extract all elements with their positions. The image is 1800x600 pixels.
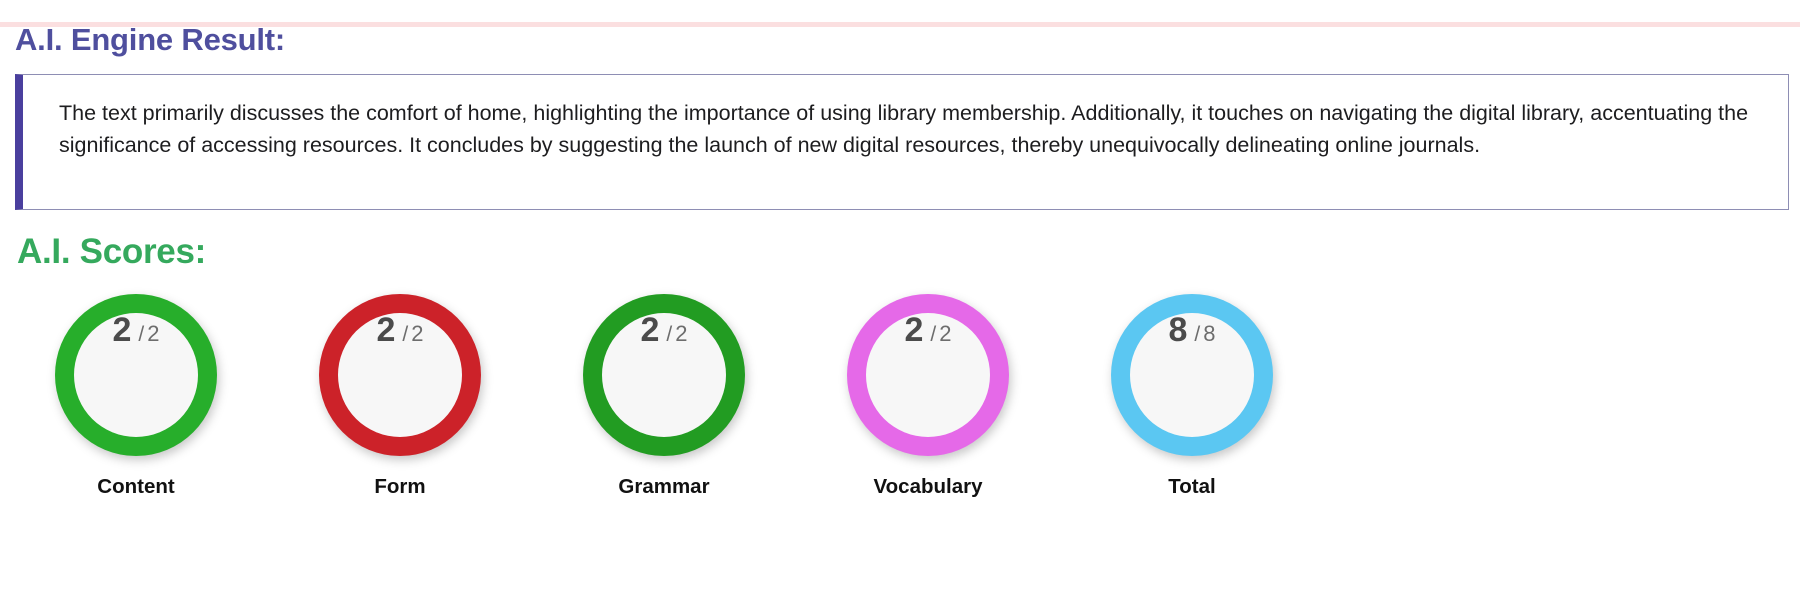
- score-ring-grammar: 2/2: [583, 294, 745, 456]
- score-inner-circle: 2/2: [866, 313, 990, 437]
- score-inner-circle: 2/2: [602, 313, 726, 437]
- score-value: 2: [376, 313, 395, 347]
- score-ring-content: 2/2: [55, 294, 217, 456]
- score-value: 2: [640, 313, 659, 347]
- engine-result-heading: A.I. Engine Result:: [15, 22, 1792, 58]
- score-label: Vocabulary: [874, 475, 983, 499]
- score-ring-vocabulary: 2/2: [847, 294, 1009, 456]
- score-ring-form: 2/2: [319, 294, 481, 456]
- score-value: 8: [1168, 313, 1187, 347]
- score-separator: /: [666, 324, 672, 345]
- score-max: 2: [675, 323, 687, 345]
- score-item-total: 8/8Total: [1108, 294, 1276, 499]
- score-separator: /: [930, 324, 936, 345]
- engine-result-box: The text primarily discusses the comfort…: [15, 74, 1789, 210]
- top-pink-strip: [0, 22, 1800, 27]
- score-max: 2: [411, 323, 423, 345]
- score-label: Grammar: [618, 475, 709, 499]
- score-item-vocabulary: 2/2Vocabulary: [844, 294, 1012, 499]
- score-inner-circle: 2/2: [338, 313, 462, 437]
- score-max: 2: [939, 323, 951, 345]
- score-value: 2: [904, 313, 923, 347]
- score-item-form: 2/2Form: [316, 294, 484, 499]
- score-inner-circle: 2/2: [74, 313, 198, 437]
- score-inner-circle: 8/8: [1130, 313, 1254, 437]
- score-max: 8: [1203, 323, 1215, 345]
- score-label: Form: [374, 475, 425, 499]
- score-value: 2: [112, 313, 131, 347]
- score-separator: /: [138, 324, 144, 345]
- engine-result-text: The text primarily discusses the comfort…: [59, 97, 1760, 161]
- score-item-content: 2/2Content: [52, 294, 220, 499]
- score-ring-total: 8/8: [1111, 294, 1273, 456]
- score-max: 2: [147, 323, 159, 345]
- score-circles-row: 2/2Content2/2Form2/2Grammar2/2Vocabulary…: [10, 294, 1792, 499]
- score-item-grammar: 2/2Grammar: [580, 294, 748, 499]
- score-separator: /: [1194, 324, 1200, 345]
- scores-heading: A.I. Scores:: [17, 232, 1792, 272]
- score-label: Content: [97, 475, 174, 499]
- score-separator: /: [402, 324, 408, 345]
- page-container: A.I. Engine Result: The text primarily d…: [0, 22, 1800, 499]
- score-label: Total: [1168, 475, 1215, 499]
